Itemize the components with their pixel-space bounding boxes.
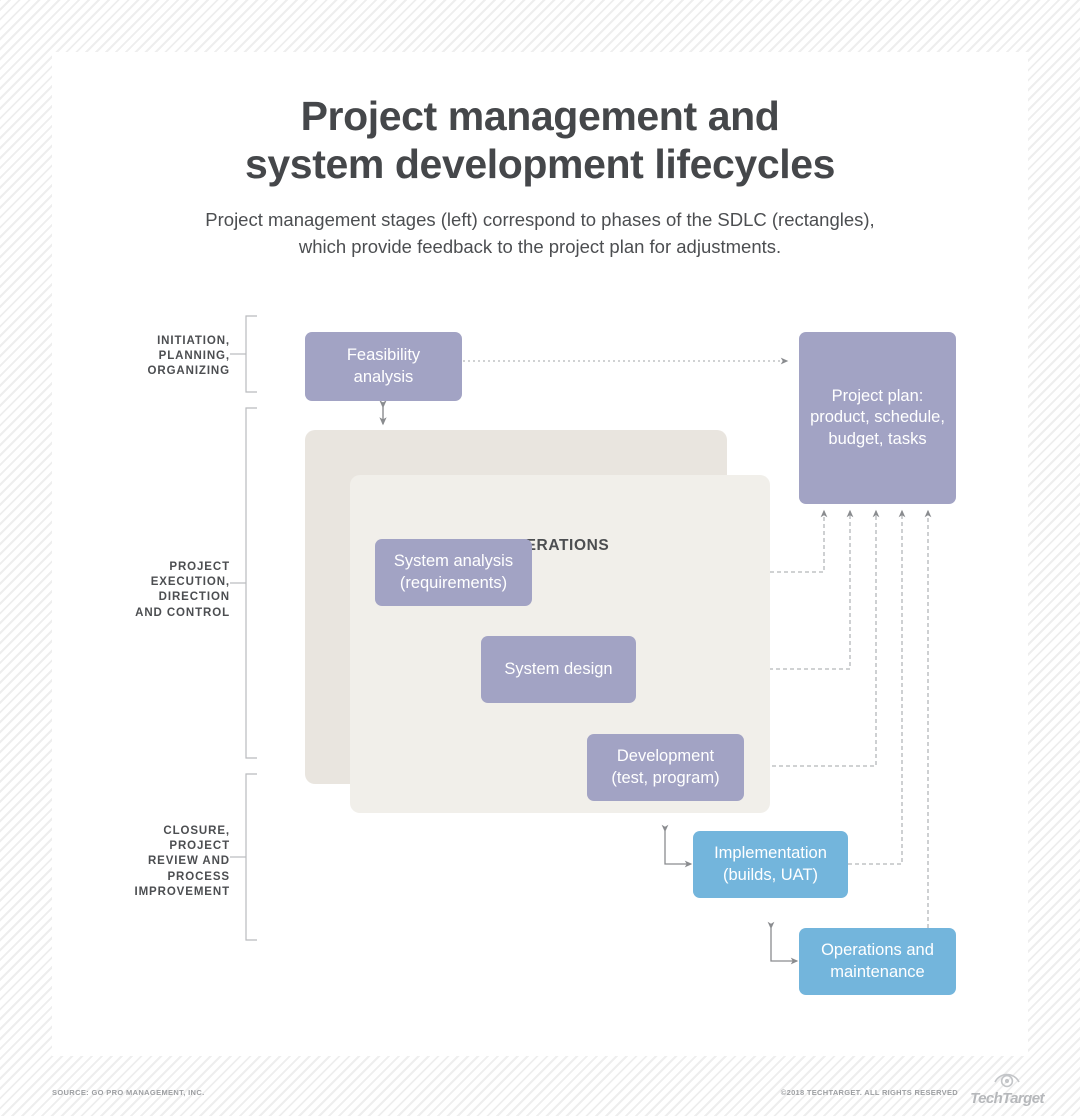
node-system-design[interactable]: System design	[481, 636, 636, 703]
stage-label-closure: CLOSURE,PROJECTREVIEW ANDPROCESSIMPROVEM…	[80, 824, 230, 900]
techtarget-logo: TechTarget	[964, 1070, 1050, 1110]
stage-brackets	[230, 316, 257, 940]
eye-icon	[993, 1070, 1021, 1090]
node-implementation[interactable]: Implementation(builds, UAT)	[693, 831, 848, 898]
node-development[interactable]: Development(test, program)	[587, 734, 744, 801]
infographic-card: Project management and system developmen…	[52, 52, 1028, 1056]
stage-label-initiation: INITIATION,PLANNING,ORGANIZING	[80, 334, 230, 380]
bracket-initiation	[246, 316, 257, 392]
edge-development-to-implementation	[665, 831, 691, 864]
feedback-implementation-to-project-plan	[848, 511, 902, 864]
footer-source: SOURCE: GO PRO MANAGEMENT, INC.	[52, 1088, 205, 1097]
node-project-plan[interactable]: Project plan:product, schedule,budget, t…	[799, 332, 956, 504]
diagram-canvas: INITIATION,PLANNING,ORGANIZING PROJECTEX…	[52, 52, 1028, 1056]
node-operations[interactable]: Operations andmaintenance	[799, 928, 956, 995]
node-system-analysis[interactable]: System analysis(requirements)	[375, 539, 532, 606]
stage-label-execution: PROJECTEXECUTION,DIRECTIONAND CONTROL	[80, 560, 230, 621]
bracket-closure	[246, 774, 257, 940]
bracket-execution	[246, 408, 257, 758]
edge-implementation-to-operations	[771, 928, 797, 961]
techtarget-wordmark: TechTarget	[964, 1090, 1050, 1107]
footer-copyright: ©2018 TECHTARGET. ALL RIGHTS RESERVED	[781, 1088, 958, 1097]
node-feasibility-analysis[interactable]: Feasibilityanalysis	[305, 332, 462, 401]
